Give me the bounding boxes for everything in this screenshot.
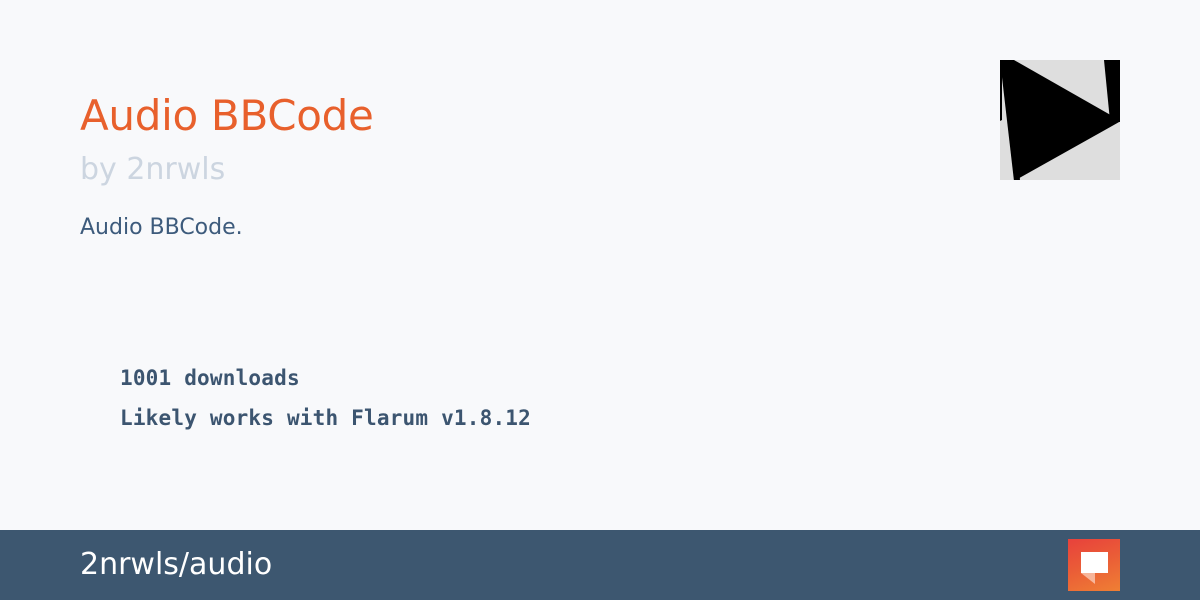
footer-bar: 2nrwls/audio <box>0 530 1200 600</box>
extension-stats: 1001 downloads Likely works with Flarum … <box>120 358 1020 438</box>
downloads-count: 1001 downloads <box>120 358 1020 398</box>
extension-header: Audio BBCode by 2nrwls <box>80 95 960 185</box>
compatibility-note: Likely works with Flarum v1.8.12 <box>120 398 1020 438</box>
page-title: Audio BBCode <box>80 95 960 137</box>
extension-description: Audio BBCode. <box>80 214 960 243</box>
extension-author: by 2nrwls <box>80 155 960 185</box>
flarum-logo <box>1068 539 1120 591</box>
play-skip-forward-icon <box>1000 60 1120 180</box>
repository-name: 2nrwls/audio <box>80 550 272 580</box>
extension-card: Audio BBCode by 2nrwls Audio BBCode. 100… <box>0 0 1200 600</box>
